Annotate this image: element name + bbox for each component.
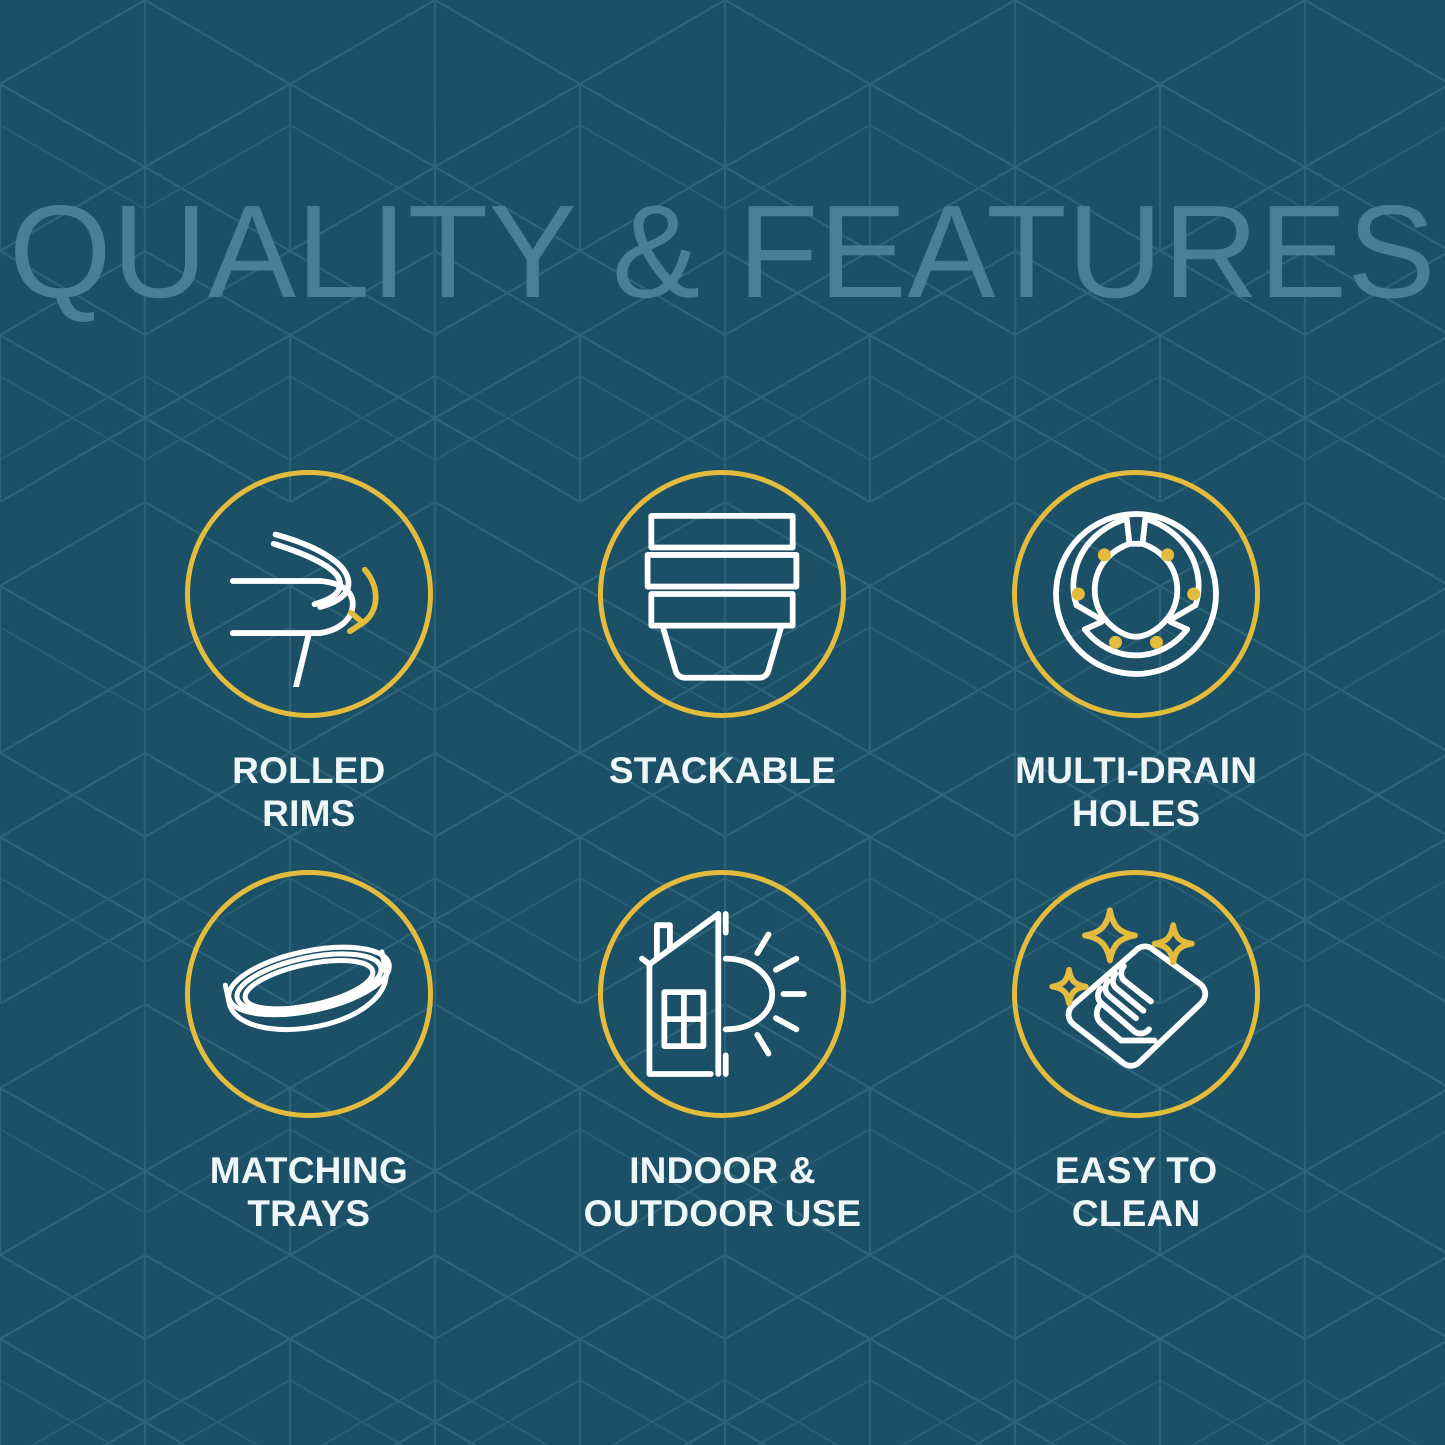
icon-circle-rolled-rims [185, 470, 433, 718]
feature-label: EASY TO CLEAN [1055, 1149, 1217, 1235]
rolled-rim-icon [216, 501, 402, 687]
features-grid: ROLLED RIMS STACKABL [102, 470, 1343, 1270]
hand-wiping-sparkle-icon [1043, 901, 1229, 1087]
stacked-pots-icon [629, 501, 815, 687]
feature-indoor-outdoor-use[interactable]: INDOOR & OUTDOOR USE [516, 870, 930, 1270]
feature-label: STACKABLE [609, 749, 836, 792]
feature-matching-trays[interactable]: MATCHING TRAYS [102, 870, 516, 1270]
infographic-panel: QUALITY & FEATURES [0, 0, 1445, 1445]
icon-circle-easy-to-clean [1012, 870, 1260, 1118]
house-sun-icon [629, 901, 815, 1087]
drain-holes-icon [1043, 501, 1229, 687]
icon-circle-indoor-outdoor-use [598, 870, 846, 1118]
feature-label: INDOOR & OUTDOOR USE [584, 1149, 862, 1235]
feature-label: MULTI-DRAIN HOLES [1015, 749, 1257, 835]
icon-circle-stackable [598, 470, 846, 718]
icon-circle-matching-trays [185, 870, 433, 1118]
icon-circle-multi-drain-holes [1012, 470, 1260, 718]
feature-easy-to-clean[interactable]: EASY TO CLEAN [929, 870, 1343, 1270]
feature-rolled-rims[interactable]: ROLLED RIMS [102, 470, 516, 870]
saucer-tray-icon [216, 901, 402, 1087]
feature-multi-drain-holes[interactable]: MULTI-DRAIN HOLES [929, 470, 1343, 870]
feature-stackable[interactable]: STACKABLE [516, 470, 930, 870]
feature-label: MATCHING TRAYS [210, 1149, 408, 1235]
feature-label: ROLLED RIMS [232, 749, 385, 835]
page-title: QUALITY & FEATURES [0, 186, 1445, 318]
